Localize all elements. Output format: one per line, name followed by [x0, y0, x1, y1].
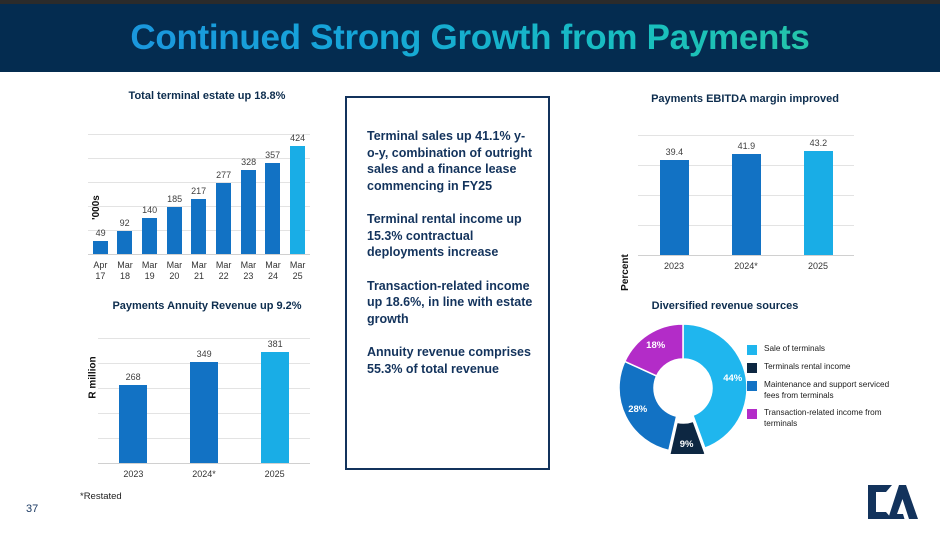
x-axis-terminal-estate: Apr17Mar18Mar19Mar20Mar21Mar22Mar23Mar24… — [88, 256, 310, 286]
bar — [261, 352, 289, 463]
chart-terminal-estate: Total terminal estate up 18.8% '000s 499… — [62, 90, 352, 285]
chart-title-ebitda-margin: Payments EBITDA margin improved — [600, 93, 890, 105]
chart-title-terminal-estate: Total terminal estate up 18.8% — [62, 90, 352, 102]
axis-baseline — [98, 463, 310, 464]
highlight-item: Annuity revenue comprises 55.3% of total… — [367, 344, 534, 377]
donut-slice-label: 44% — [719, 373, 747, 384]
highlights-callout-box: Terminal sales up 41.1% y-o-y, combinati… — [345, 96, 550, 470]
bar — [241, 170, 256, 254]
category-label-line: 25 — [281, 271, 314, 282]
chart-annuity-revenue: Payments Annuity Revenue up 9.2% R milli… — [62, 300, 352, 490]
chart-title-annuity-revenue: Payments Annuity Revenue up 9.2% — [62, 300, 352, 312]
page-title: Continued Strong Growth from Payments — [0, 4, 940, 72]
bar — [265, 163, 280, 254]
legend-item: Terminals rental income — [747, 362, 902, 373]
donut-slice-label: 9% — [673, 439, 701, 450]
legend-label: Maintenance and support serviced fees fr… — [764, 380, 902, 401]
x-axis-annuity-revenue: 20232024*2025 — [98, 465, 310, 481]
bar — [191, 199, 206, 254]
category-label: 2023 — [94, 469, 173, 480]
bar-value-label: 349 — [182, 349, 226, 359]
bar-value-label: 424 — [282, 133, 313, 143]
category-label: 2023 — [634, 261, 714, 272]
donut-legend: Sale of terminalsTerminals rental income… — [747, 344, 902, 436]
donut-chart-svg — [617, 322, 749, 454]
axis-baseline — [638, 255, 854, 256]
page-number: 37 — [26, 503, 38, 515]
category-label: Mar25 — [281, 260, 314, 282]
plot-area-annuity-revenue: 268349381 — [98, 338, 310, 463]
donut-slice-label: 28% — [624, 404, 652, 415]
footnote-restated: *Restated — [80, 491, 122, 502]
bar-value-label: 140 — [134, 205, 165, 215]
highlight-item: Terminal sales up 41.1% y-o-y, combinati… — [367, 128, 534, 194]
axis-baseline — [88, 254, 310, 255]
bar-value-label: 41.9 — [724, 141, 769, 151]
gridline — [638, 135, 854, 136]
plot-area-terminal-estate: 4992140185217277328357424 — [88, 134, 310, 254]
bar-value-label: 381 — [253, 339, 297, 349]
bar — [660, 160, 689, 255]
bar-value-label: 43.2 — [796, 138, 841, 148]
legend-swatch-icon — [747, 363, 757, 373]
bar — [190, 362, 218, 463]
legend-item: Transaction-related income from terminal… — [747, 408, 902, 429]
bar-value-label: 217 — [183, 186, 214, 196]
legend-swatch-icon — [747, 381, 757, 391]
highlights-list: Terminal sales up 41.1% y-o-y, combinati… — [367, 128, 534, 394]
legend-item: Maintenance and support serviced fees fr… — [747, 380, 902, 401]
bar — [117, 231, 132, 254]
category-label-line: Mar — [281, 260, 314, 271]
category-label: 2024* — [165, 469, 244, 480]
bar-value-label: 277 — [208, 170, 239, 180]
legend-swatch-icon — [747, 345, 757, 355]
ca-logo-icon — [866, 483, 918, 521]
category-label: 2025 — [235, 469, 314, 480]
legend-item: Sale of terminals — [747, 344, 902, 355]
ca-monogram-logo — [866, 483, 918, 521]
bar-value-label: 268 — [111, 372, 155, 382]
chart-title-diversified-revenue: Diversified revenue sources — [600, 300, 850, 312]
bar — [216, 183, 231, 254]
x-axis-ebitda-margin: 20232024*2025 — [638, 257, 854, 273]
category-label: 2025 — [778, 261, 858, 272]
bar — [119, 385, 147, 463]
plot-area-ebitda-margin: 39.441.943.2 — [638, 135, 854, 255]
legend-label: Sale of terminals — [764, 344, 825, 355]
slide-root: Continued Strong Growth from Payments To… — [0, 0, 940, 535]
highlight-item: Terminal rental income up 15.3% contract… — [367, 211, 534, 261]
legend-label: Terminals rental income — [764, 362, 850, 373]
category-label: 2024* — [706, 261, 786, 272]
bar — [142, 218, 157, 254]
legend-label: Transaction-related income from terminal… — [764, 408, 902, 429]
donut-graphic: 44%9%28%18% — [617, 322, 749, 454]
bar — [732, 154, 761, 255]
bar — [167, 207, 182, 254]
bar — [93, 241, 108, 254]
chart-diversified-revenue-sources: Diversified revenue sources 44%9%28%18% … — [600, 300, 900, 485]
bar-value-label: 49 — [85, 228, 116, 238]
bar-value-label: 39.4 — [652, 147, 697, 157]
bar — [290, 146, 305, 254]
highlight-item: Transaction-related income up 18.6%, in … — [367, 278, 534, 328]
chart-ebitda-margin: Payments EBITDA margin improved Percent … — [600, 90, 890, 285]
legend-swatch-icon — [747, 409, 757, 419]
bar — [804, 151, 833, 255]
bar-value-label: 357 — [257, 150, 288, 160]
gridline — [88, 134, 310, 135]
donut-slice-label: 18% — [642, 340, 670, 351]
bar-value-label: 92 — [109, 218, 140, 228]
